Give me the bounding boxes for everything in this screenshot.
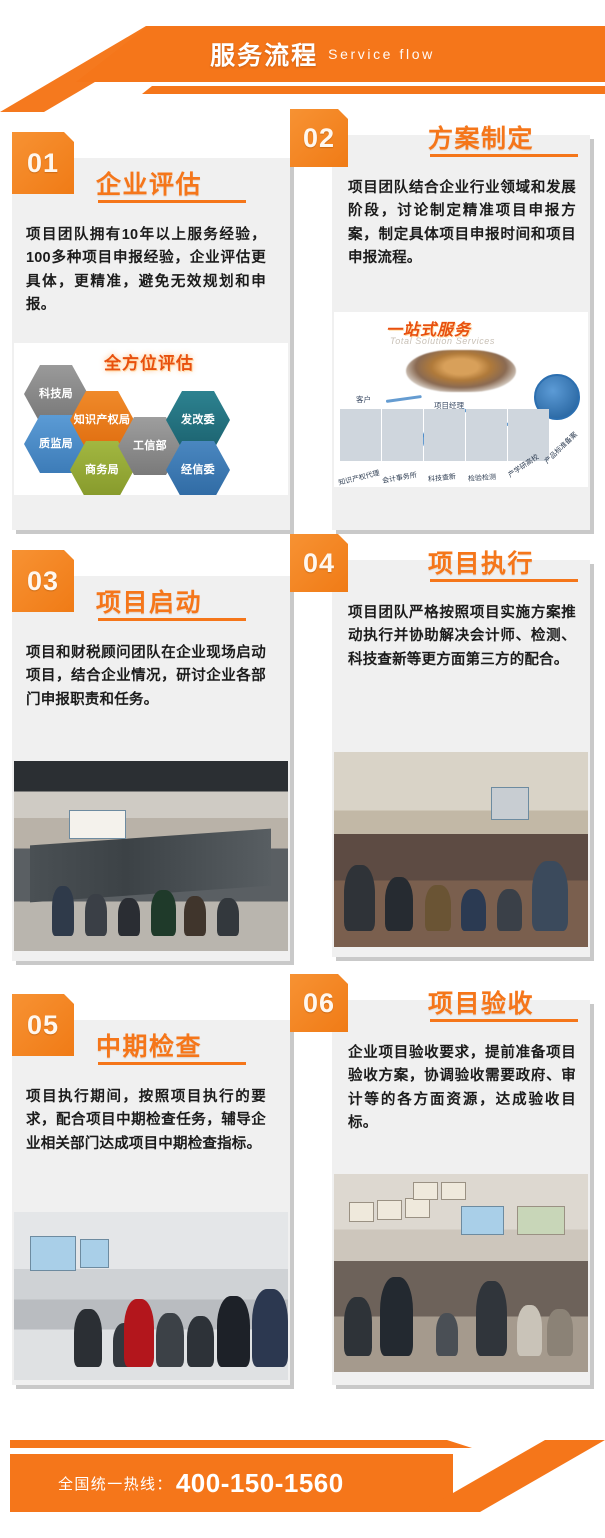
step-description: 企业项目验收要求，提前准备项目验收方案，协调验收需要政府、审计等的各方面资源，达… xyxy=(348,1042,576,1136)
hexagon-diagram: 全方位评估 科技局 质监局 知识产权局 商务局 工信部 发改委 经信委 xyxy=(14,343,288,495)
step-description: 项目和财税顾问团队在企业现场启动项目，结合企业情况，研讨企业各部门申报职责和任务… xyxy=(26,642,266,712)
step-card-02[interactable]: 02 方案制定 项目团队结合企业行业领域和发展阶段，讨论制定精准项目申报方案，制… xyxy=(290,105,605,533)
card-grid: 01 企业评估 项目团队拥有10年以上服务经验，100多种项目申报经验，企业评估… xyxy=(0,0,605,1538)
step-photo-execution-meeting xyxy=(334,752,588,947)
one-stop-label-novelty: 科技查新 xyxy=(428,472,457,485)
one-stop-thumb-4 xyxy=(466,409,507,461)
footer-stripe xyxy=(10,1440,605,1448)
step-card-05[interactable]: 05 中期检查 项目执行期间，按照项目执行的要求，配合项目中期检查任务，辅导企业… xyxy=(0,990,298,1388)
meeting-photo-thumb xyxy=(406,350,516,392)
step-description: 项目执行期间，按照项目执行的要求，配合项目中期检查任务，辅导企业相关部门达成项目… xyxy=(26,1086,266,1156)
title-underline xyxy=(98,1062,246,1065)
one-stop-thumb-2 xyxy=(382,409,423,461)
step-photo-kickoff-meeting xyxy=(14,761,288,951)
title-underline xyxy=(98,200,246,203)
one-stop-thumb-3 xyxy=(424,409,465,461)
footer-hotline-group: 全国统一热线： 400-150-1560 xyxy=(10,1454,450,1512)
step-description: 项目团队严格按照项目实施方案推动执行并协助解决会计师、检测、科技查新等更方面第三… xyxy=(348,602,576,672)
hexagon-diagram-title: 全方位评估 xyxy=(104,349,194,374)
step-title: 企业评估 xyxy=(96,165,202,201)
step-title: 方案制定 xyxy=(428,119,534,155)
hotline-number[interactable]: 400-150-1560 xyxy=(176,1468,344,1499)
one-stop-node-kehu: 客户 xyxy=(356,394,371,405)
step-number-badge: 03 xyxy=(12,550,74,612)
step-number-badge: 06 xyxy=(290,974,348,1032)
step-description: 项目团队拥有10年以上服务经验，100多种项目申报经验，企业评估更具体，更精准，… xyxy=(26,224,266,318)
hotline-label: 全国统一热线： xyxy=(58,1473,173,1494)
service-flow-infographic: 服务流程 Service flow 01 企业评估 项目团队拥有10年以上服务经… xyxy=(0,0,605,1538)
step-number-badge: 02 xyxy=(290,109,348,167)
one-stop-thumb-5 xyxy=(508,409,549,461)
step-title: 项目执行 xyxy=(428,544,534,580)
one-stop-thumb-1 xyxy=(340,409,381,461)
one-stop-label-ip: 知识产权代理 xyxy=(337,468,380,487)
step-photo-midterm-inspection xyxy=(14,1212,288,1380)
page-footer: 全国统一热线： 400-150-1560 xyxy=(0,1422,605,1538)
step-card-06[interactable]: 06 项目验收 企业项目验收要求，提前准备项目验收方案，协调验收需要政府、审计等… xyxy=(290,970,605,1388)
step-number-badge: 05 xyxy=(12,994,74,1056)
step-title: 中期检查 xyxy=(96,1027,202,1063)
title-underline xyxy=(98,618,246,621)
step-number-badge: 04 xyxy=(290,534,348,592)
one-stop-service-diagram: 一站式服务 Total Solution Services 客户 项目经理 知识… xyxy=(334,312,588,487)
step-title: 项目验收 xyxy=(428,984,534,1020)
step-description: 项目团队结合企业行业领域和发展阶段，讨论制定精准项目申报方案，制定具体项目申报时… xyxy=(348,177,576,271)
step-title: 项目启动 xyxy=(96,583,202,619)
step-card-01[interactable]: 01 企业评估 项目团队拥有10年以上服务经验，100多种项目申报经验，企业评估… xyxy=(0,128,298,533)
title-underline xyxy=(430,154,578,157)
step-number-badge: 01 xyxy=(12,132,74,194)
title-underline xyxy=(430,1019,578,1022)
step-photo-acceptance-review xyxy=(334,1174,588,1372)
one-stop-label-accounting: 会计事务所 xyxy=(381,470,417,486)
one-stop-label-testing: 检验检测 xyxy=(468,472,497,484)
title-underline xyxy=(430,579,578,582)
step-card-04[interactable]: 04 项目执行 项目团队严格按照项目实施方案推动执行并协助解决会计师、检测、科技… xyxy=(290,530,605,960)
step-card-03[interactable]: 03 项目启动 项目和财税顾问团队在企业现场启动项目，结合企业情况，研讨企业各部… xyxy=(0,546,298,964)
one-stop-subtitle: Total Solution Services xyxy=(390,336,495,346)
